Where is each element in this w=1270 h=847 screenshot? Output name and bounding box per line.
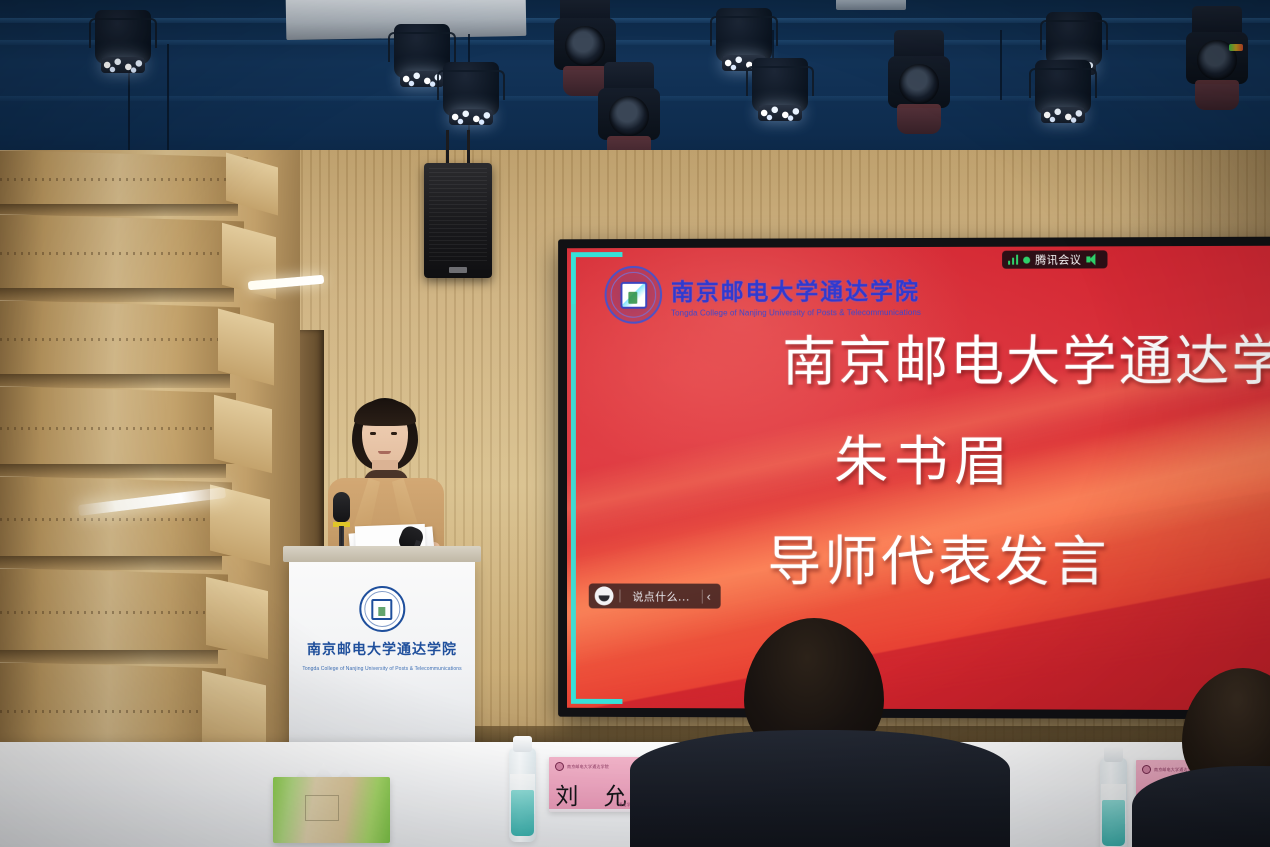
water-bottle <box>509 748 536 842</box>
chat-input-placeholder[interactable]: 说点什么... <box>620 588 701 604</box>
meeting-status-pill[interactable]: 腾讯会议 <box>1002 250 1108 268</box>
meeting-app-label: 腾讯会议 <box>1035 254 1081 265</box>
slide-line-2: 朱书眉 <box>834 435 1014 489</box>
meeting-chat-bar[interactable]: 说点什么... ‹ <box>589 583 721 608</box>
audience-member <box>1112 668 1270 847</box>
ceiling-panel <box>836 0 906 10</box>
university-seal-icon <box>605 266 662 324</box>
slide-line-1: 南京邮电大学通达学 <box>782 334 1270 389</box>
podium-cn-name: 南京邮电大学通达学院 <box>307 639 457 659</box>
signal-bars-icon <box>1008 255 1019 265</box>
stage-par-light <box>1046 12 1102 66</box>
slide-headline: 南京邮电大学通达学 朱书眉 导师代表发言 <box>567 334 1270 589</box>
name-card-org: 南京邮电大学通达学院 <box>567 764 609 770</box>
slide-logo: 南京邮电大学通达学院 Tongda College of Nanjing Uni… <box>605 265 921 324</box>
stage-par-light <box>95 10 151 64</box>
live-status-dot <box>1023 256 1030 263</box>
audience-member <box>620 618 1020 847</box>
hanging-speaker <box>424 163 492 278</box>
conference-hall-photo: 南京邮电大学通达学院 Tongda College of Nanjing Uni… <box>0 0 1270 847</box>
moving-head-light <box>1186 6 1248 110</box>
podium-logo: 南京邮电大学通达学院 Tongda College of Nanjing Uni… <box>302 586 461 672</box>
slide-logo-cn-name: 南京邮电大学通达学院 <box>671 271 921 306</box>
stage-par-light <box>443 62 499 116</box>
university-seal-icon <box>555 762 564 771</box>
university-seal-icon <box>359 586 405 632</box>
emoji-icon[interactable] <box>595 586 614 605</box>
moving-head-light <box>888 30 950 134</box>
stage-par-light <box>752 58 808 112</box>
stage-par-light <box>716 8 772 62</box>
stage-par-light <box>1035 60 1091 114</box>
podium: 南京邮电大学通达学院 Tongda College of Nanjing Uni… <box>289 558 475 748</box>
tissue-box <box>273 777 390 843</box>
speaker-icon[interactable] <box>1086 253 1099 265</box>
slide-line-3: 导师代表发言 <box>767 535 1109 589</box>
slide-logo-en-name: Tongda College of Nanjing University of … <box>671 307 921 317</box>
wood-slat-wall <box>0 150 300 750</box>
chat-collapse-button[interactable]: ‹ <box>702 589 719 603</box>
podium-en-name: Tongda College of Nanjing University of … <box>302 666 461 672</box>
